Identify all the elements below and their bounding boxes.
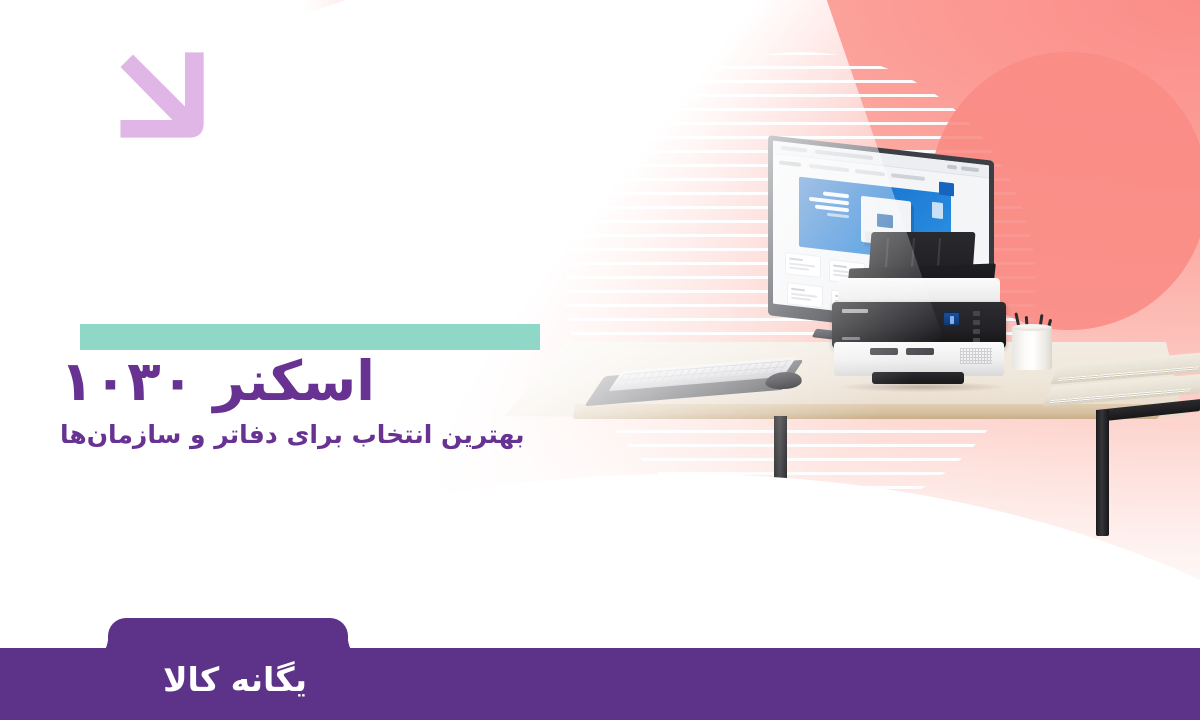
screen-hero-badge [932,202,943,219]
brand-logo-text: یگانه کالا [120,663,350,696]
pen-cup-rim [1012,324,1052,331]
binder-stack [1050,358,1200,412]
footer: یگانه کالا [0,648,1200,720]
scanner-vent-grill [960,348,992,364]
page-title: اسکنر ۱۰۳۰ [60,352,542,410]
scanner-buttons [970,311,980,343]
page-subtitle: بهترین انتخاب برای دفاتر و سازمان‌ها [60,420,542,450]
desk-leg-right [1096,410,1109,536]
footer-logo-tab [108,618,348,662]
teal-accent-bar [80,324,540,350]
scanner-lcd-display [943,312,960,326]
promo-banner: اسکنر ۱۰۳۰ بهترین انتخاب برای دفاتر و سا… [0,0,1200,720]
pen-cup [1012,314,1052,370]
arrow-down-right-icon [108,42,212,146]
pen-cup-body [1012,326,1052,370]
screen-blue-tile [939,182,954,197]
headline-block: اسکنر ۱۰۳۰ بهترین انتخاب برای دفاتر و سا… [60,352,542,450]
